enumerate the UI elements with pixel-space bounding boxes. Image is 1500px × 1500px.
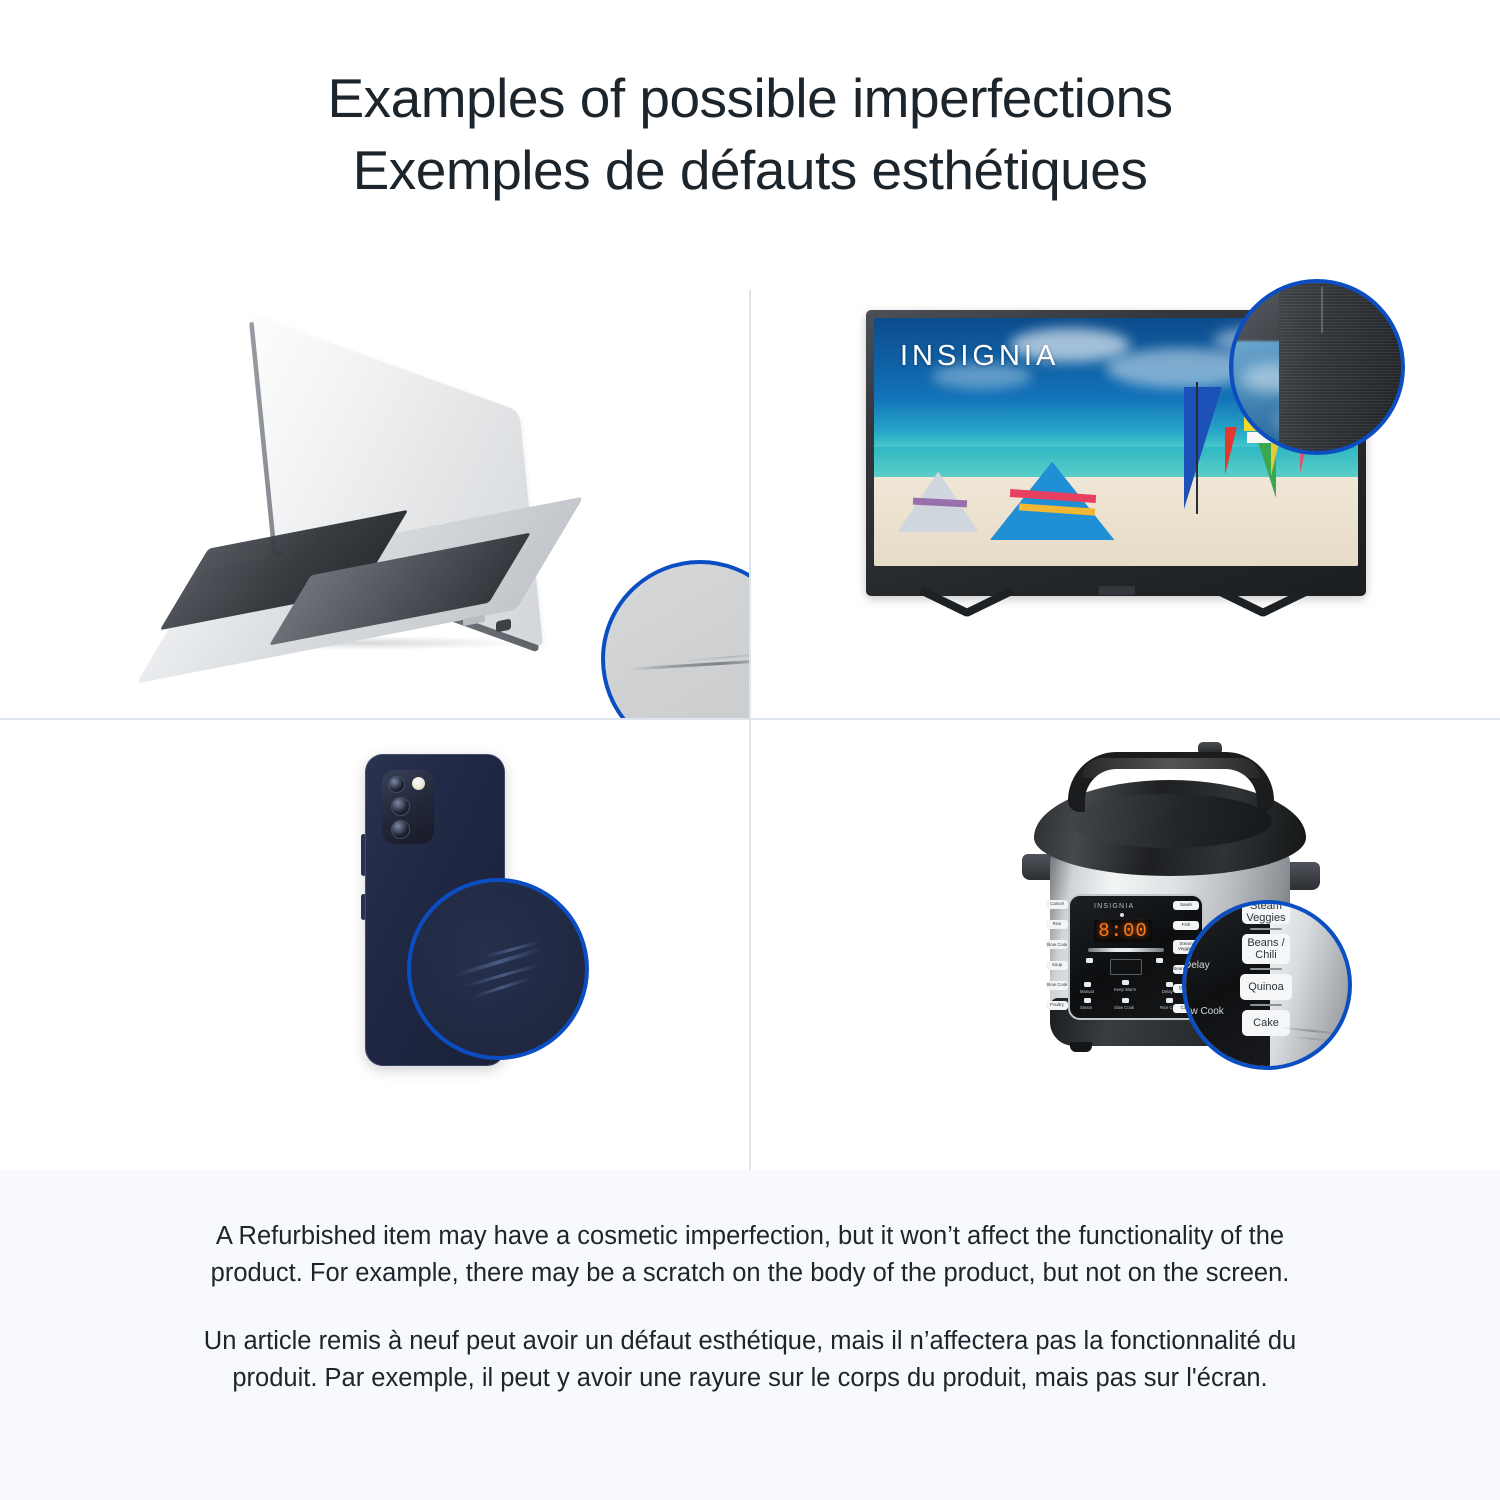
- stand-leg: [919, 587, 971, 618]
- cooker-scratch-defect: [1282, 1027, 1344, 1035]
- page-header: Examples of possible imperfections Exemp…: [0, 0, 1500, 268]
- laptop-illustration: [160, 368, 620, 658]
- magnifier-circle-cooker: Steam Veggies Beans / Chili Quinoa Cake …: [1182, 900, 1352, 1070]
- status-led-icon: [1120, 913, 1124, 917]
- cooker-time-window: [1110, 959, 1142, 975]
- cooker-button-soup[interactable]: Soup: [1046, 961, 1068, 970]
- cooker-foot: [1070, 1042, 1092, 1052]
- sail-mast: [1196, 382, 1198, 514]
- refurbished-imperfections-infographic: Examples of possible imperfections Exemp…: [0, 0, 1500, 1500]
- cooker-left-button-column[interactable]: Cancel Rice Slow Cook Soup Slow Cook Pou…: [1046, 900, 1068, 1010]
- phone-illustration: [355, 748, 535, 1078]
- magnifier-circle-laptop: [601, 560, 749, 718]
- camera-lens-icon: [388, 776, 405, 793]
- cooker-label-delay: Delay: [1162, 989, 1173, 994]
- cooker-button-cancel[interactable]: Cancel: [1046, 900, 1068, 909]
- tv-brand-logo: INSIGNIA: [900, 340, 1059, 373]
- cooker-button-rice[interactable]: Rice: [1046, 920, 1068, 929]
- magnifier-circle-phone: [407, 878, 589, 1060]
- camera-module: [382, 770, 434, 844]
- cooker-button-rice-cook[interactable]: [1166, 998, 1173, 1003]
- stand-leg: [1259, 587, 1311, 618]
- tv-bezel-scuff-defect: [1279, 283, 1405, 455]
- zoom-button-separator: [1250, 928, 1282, 930]
- cooker-button-slow-cook-left[interactable]: Slow Cook: [1046, 940, 1068, 949]
- cooker-illustration: INSIGNIA 8:00 Manual Keep Warm Delay Ste…: [1016, 736, 1376, 1086]
- tv-illustration: INSIGNIA: [856, 310, 1396, 680]
- cooker-button-more[interactable]: [1156, 958, 1163, 963]
- footer-paragraph-english: A Refurbished item may have a cosmetic i…: [170, 1218, 1330, 1292]
- magnifier-circle-tv: [1229, 279, 1405, 455]
- zoom-button-beans-chili: Beans / Chili: [1242, 934, 1290, 964]
- stand-leg: [963, 587, 1015, 618]
- camera-lens-icon: [391, 797, 410, 816]
- zoom-button-cake: Cake: [1242, 1010, 1290, 1036]
- cooker-label-steam: Steam: [1080, 1005, 1092, 1010]
- examples-grid: INSIGNIA: [0, 268, 1500, 1170]
- cooker-button-less[interactable]: [1086, 958, 1093, 963]
- cooker-label-slow-cook: Slow Cook: [1114, 1005, 1134, 1010]
- cooker-brand-label: INSIGNIA: [1094, 903, 1134, 910]
- zoom-button-separator: [1250, 968, 1282, 970]
- zoom-button-steam-veggies: Steam Veggies: [1242, 900, 1290, 924]
- panel-phone: [0, 720, 749, 1170]
- footer-paragraph-french: Un article remis à neuf peut avoir un dé…: [170, 1323, 1330, 1397]
- page-title-english: Examples of possible imperfections: [327, 62, 1172, 134]
- stand-leg: [1215, 587, 1267, 618]
- cooker-button-slow-cook[interactable]: [1122, 998, 1129, 1003]
- zoom-button-quinoa: Quinoa: [1240, 974, 1292, 1000]
- cooker-button-manual[interactable]: [1084, 982, 1091, 987]
- zoom-label-delay: Delay: [1184, 960, 1210, 971]
- tv-bezel-seam: [1321, 287, 1323, 333]
- panel-pressure-cooker: INSIGNIA 8:00 Manual Keep Warm Delay Ste…: [751, 720, 1500, 1170]
- zoom-label-slow-cook: Slow Cook: [1182, 1006, 1224, 1017]
- tv-logo-plate: [1099, 586, 1135, 595]
- tv-stand-left: [918, 592, 1018, 646]
- camera-flash-icon: [412, 777, 425, 790]
- cooker-button-poultry[interactable]: Poultry: [1046, 1001, 1068, 1010]
- panel-tv: INSIGNIA: [751, 268, 1500, 718]
- tv-stand-right: [1214, 592, 1314, 646]
- cooker-label-manual: Manual: [1080, 989, 1094, 994]
- cooker-button-keep-warm[interactable]: [1122, 980, 1129, 985]
- pressure-level-slider[interactable]: [1088, 948, 1164, 952]
- sailboat-blue: [1184, 387, 1222, 509]
- cooker-button-steam[interactable]: [1084, 998, 1091, 1003]
- page-title-french: Exemples de défauts esthétiques: [353, 134, 1148, 206]
- zoom-button-separator: [1250, 1004, 1282, 1006]
- panel-laptop: [0, 268, 749, 718]
- cooker-lcd-display: 8:00: [1094, 920, 1152, 942]
- cooker-label-keep-warm: Keep Warm: [1114, 987, 1136, 992]
- cooker-scratch-defect: [1290, 1036, 1338, 1042]
- cooker-button-slow-cook-left2[interactable]: Slow Cook: [1046, 981, 1068, 990]
- footer-description: A Refurbished item may have a cosmetic i…: [0, 1170, 1500, 1500]
- cooker-button-delay[interactable]: [1166, 982, 1173, 987]
- camera-lens-icon: [391, 820, 410, 839]
- cooker-handle-highlight: [1082, 758, 1260, 778]
